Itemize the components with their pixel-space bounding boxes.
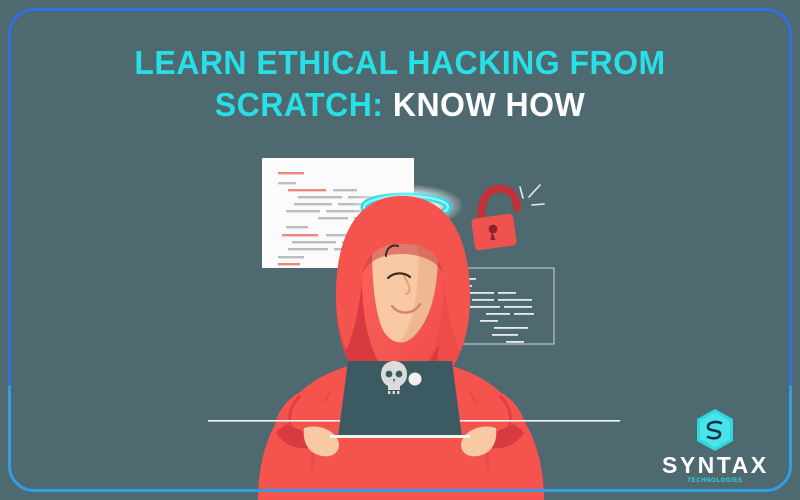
laptop-with-skull-sticker: [330, 361, 470, 438]
title-line-2-cyan: SCRATCH:: [215, 86, 393, 123]
syntax-logo[interactable]: SYNTAX TECHNOLOGIES: [662, 408, 768, 484]
poster-canvas: LEARN ETHICAL HACKING FROM SCRATCH: KNOW…: [0, 0, 800, 500]
sticker-dot-icon: [409, 373, 422, 386]
title-line-2: SCRATCH: KNOW HOW: [12, 88, 788, 121]
title-line-2-white: KNOW HOW: [393, 86, 585, 123]
logo-tagline: TECHNOLOGIES: [662, 478, 768, 484]
logo-wordmark: SYNTAX: [662, 454, 768, 477]
syntax-hexagon-icon: [695, 408, 735, 452]
open-padlock-icon: [471, 185, 544, 251]
page-title: LEARN ETHICAL HACKING FROM SCRATCH: KNOW…: [0, 46, 800, 121]
title-line-1: LEARN ETHICAL HACKING FROM: [12, 46, 788, 79]
